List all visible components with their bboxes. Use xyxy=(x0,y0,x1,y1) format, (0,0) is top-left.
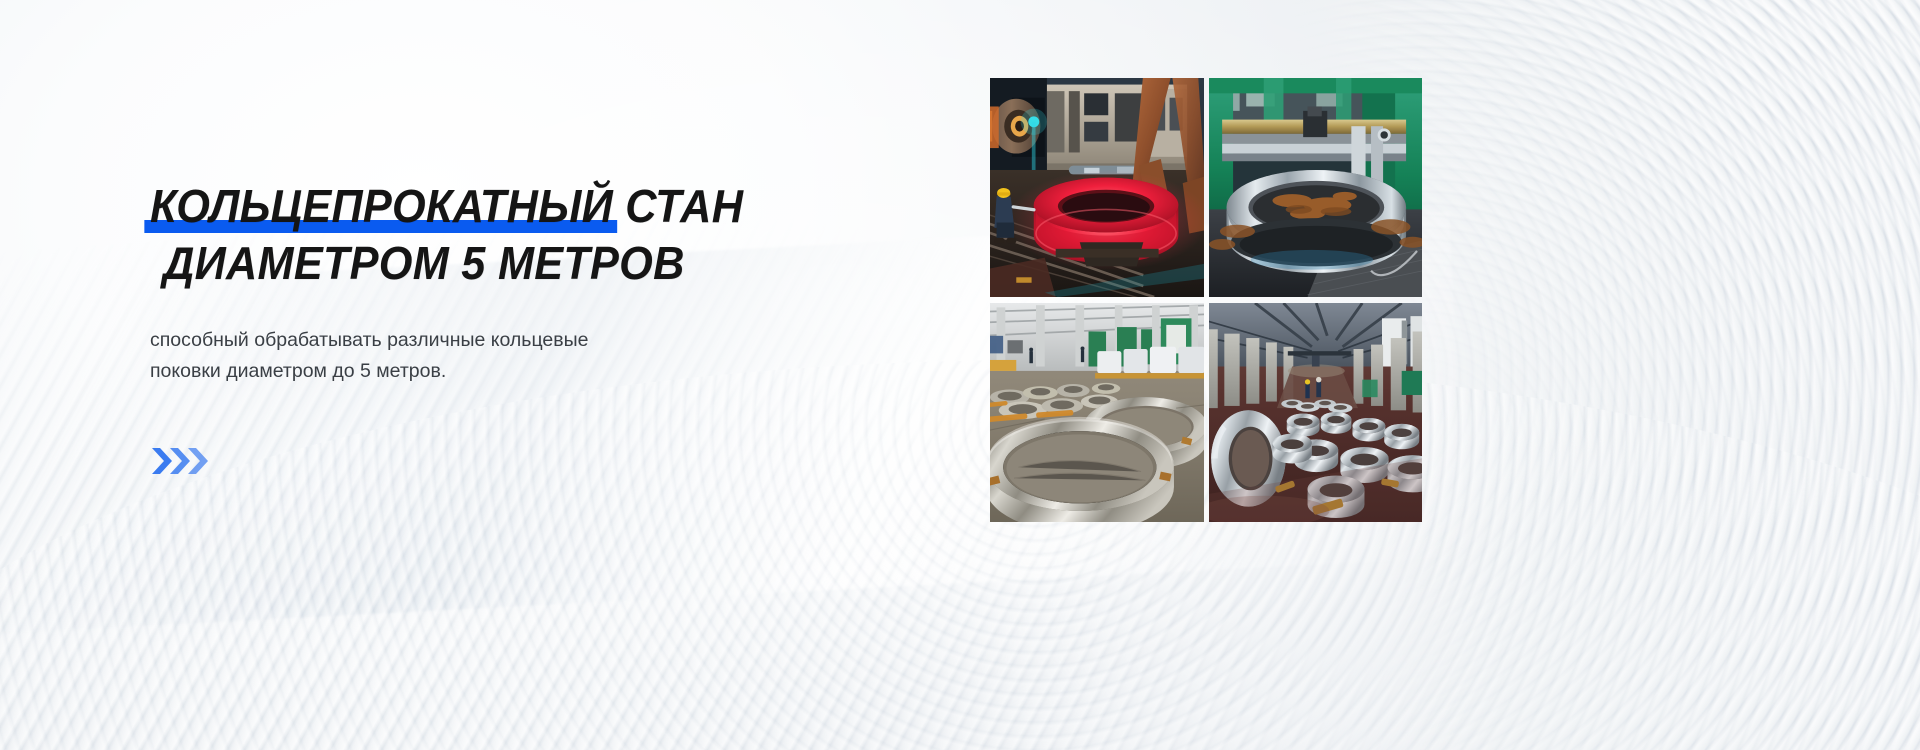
title-line-2: ДИАМЕТРОМ 5 МЕТРОВ xyxy=(150,235,921,292)
subtitle-line-2: поковки диаметром до 5 метров. xyxy=(150,356,710,387)
title-rest-text: СТАН xyxy=(613,180,743,232)
double-chevron-right-icon[interactable] xyxy=(152,444,214,478)
title-line-1: КОЛЬЦЕПРОКАТНЫЙ СТАН xyxy=(150,178,921,235)
title-highlight-wrap: КОЛЬЦЕПРОКАТНЫЙ xyxy=(150,178,613,235)
gallery-photo-bottom-right[interactable] xyxy=(1209,303,1423,522)
subtitle: способный обрабатывать различные кольцев… xyxy=(150,325,710,387)
content-panel: КОЛЬЦЕПРОКАТНЫЙ СТАН ДИАМЕТРОМ 5 МЕТРОВ … xyxy=(0,0,990,750)
photo-gallery xyxy=(990,78,1422,522)
subtitle-line-1: способный обрабатывать различные кольцев… xyxy=(150,325,710,356)
gallery-photo-top-left[interactable] xyxy=(990,78,1204,297)
page-title: КОЛЬЦЕПРОКАТНЫЙ СТАН ДИАМЕТРОМ 5 МЕТРОВ xyxy=(150,178,970,292)
title-highlighted-text: КОЛЬЦЕПРОКАТНЫЙ xyxy=(150,180,613,232)
gallery-photo-top-right[interactable] xyxy=(1209,78,1423,297)
gallery-photo-bottom-left[interactable] xyxy=(990,303,1204,522)
